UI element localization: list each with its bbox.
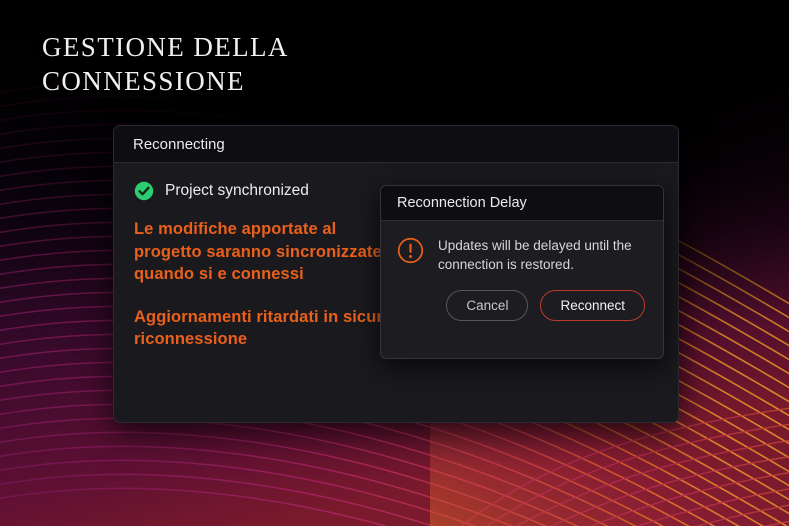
reconnecting-dialog-title: Reconnecting <box>133 136 225 153</box>
screen: GESTIONE DELLA CONNESSIONE Reconnecting … <box>0 0 789 526</box>
warning-row: Updates will be delayed until the connec… <box>397 236 647 274</box>
warning-message: Updates will be delayed until the connec… <box>438 236 647 274</box>
alert-primary-text: Le modifiche apportate al progetto saran… <box>134 218 384 286</box>
reconnection-delay-dialog-title: Reconnection Delay <box>397 195 527 211</box>
reconnection-delay-dialog-body: Updates will be delayed until the connec… <box>381 221 663 321</box>
sync-status-label: Project synchronized <box>165 182 309 200</box>
page-title: GESTIONE DELLA CONNESSIONE <box>42 30 462 98</box>
alert-circle-icon <box>397 237 424 264</box>
dialog-actions: Cancel Reconnect <box>397 290 647 321</box>
reconnection-delay-dialog: Reconnection Delay Updates will be delay… <box>380 185 664 359</box>
cancel-button[interactable]: Cancel <box>446 290 528 321</box>
reconnecting-dialog-header: Reconnecting <box>114 126 678 163</box>
reconnect-button[interactable]: Reconnect <box>540 290 645 321</box>
reconnection-delay-dialog-header: Reconnection Delay <box>381 186 663 221</box>
check-circle-icon <box>134 181 154 201</box>
